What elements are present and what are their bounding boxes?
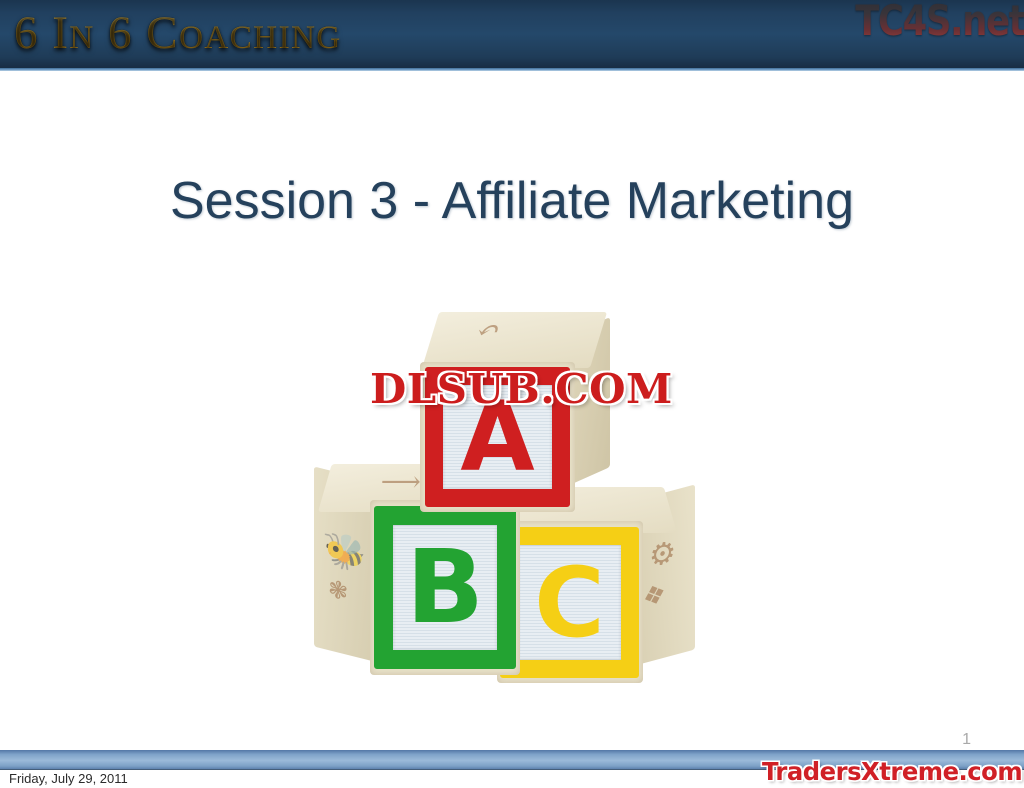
footer-date: Friday, July 29, 2011 bbox=[9, 770, 128, 787]
block-b-letter-frame: B bbox=[374, 506, 516, 669]
tc4s-brand-logo: TC4S.net bbox=[855, 0, 1024, 46]
slide-title: Session 3 - Affiliate Marketing bbox=[0, 168, 1024, 234]
block-b-letter: B bbox=[393, 525, 497, 650]
header-banner: 6 In 6 Coaching TC4S.net bbox=[0, 0, 1024, 71]
block-a: ↶ A bbox=[420, 312, 610, 527]
dlsub-watermark: DLSUB.COM bbox=[370, 365, 673, 413]
block-a-top-face: ↶ bbox=[422, 312, 607, 368]
block-c-letter: C bbox=[518, 545, 621, 660]
header-title: 6 In 6 Coaching bbox=[14, 4, 342, 62]
presentation-slide: 6 In 6 Coaching TC4S.net Session 3 - Aff… bbox=[0, 0, 1024, 788]
page-number: 1 bbox=[962, 730, 971, 750]
tradersxtreme-logo: TradersXtreme.com bbox=[762, 757, 1022, 787]
